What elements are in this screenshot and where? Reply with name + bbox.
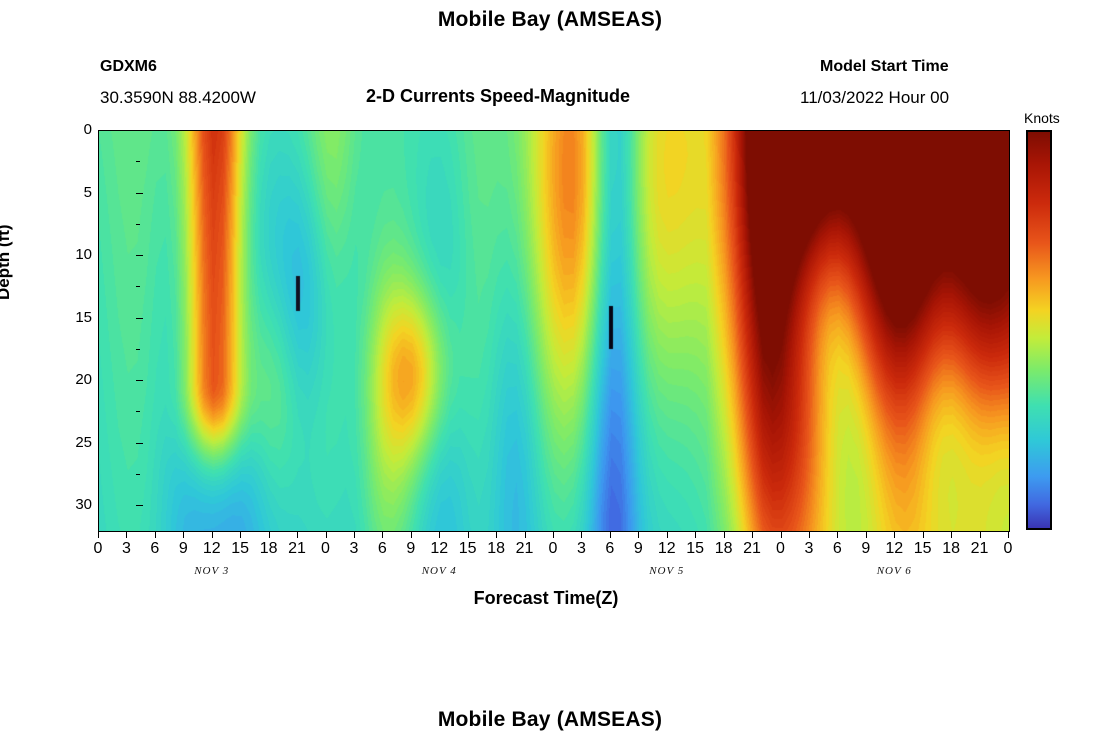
x-tick-mark [439, 531, 440, 538]
x-tick-mark [980, 531, 981, 538]
x-tick-mark [155, 531, 156, 538]
y-tick-mark [136, 255, 143, 256]
colorbar [1026, 130, 1100, 530]
x-tick-mark [809, 531, 810, 538]
x-tick-mark [866, 531, 867, 538]
heatmap-plot-area [98, 130, 1010, 532]
x-day-label: NOV 5 [607, 565, 727, 577]
y-tick-mark [136, 130, 143, 131]
page-title: Mobile Bay (AMSEAS) [0, 8, 1100, 32]
bottom-title: Mobile Bay (AMSEAS) [0, 708, 1100, 732]
x-tick-mark [667, 531, 668, 538]
x-tick-mark [923, 531, 924, 538]
x-tick-mark [468, 531, 469, 538]
x-tick-label: 0 [988, 540, 1028, 558]
x-tick-mark [269, 531, 270, 538]
y-tick-mark-minor [136, 286, 140, 287]
x-tick-mark [951, 531, 952, 538]
y-tick-mark-minor [136, 411, 140, 412]
x-axis-title: Forecast Time(Z) [0, 588, 1100, 609]
plot-subtitle: 2-D Currents Speed-Magnitude [366, 86, 630, 107]
x-tick-mark [610, 531, 611, 538]
y-tick-mark [136, 505, 143, 506]
x-tick-mark [837, 531, 838, 538]
y-tick-label: 20 [52, 371, 92, 388]
colorbar-gradient [1026, 130, 1052, 530]
y-tick-label: 10 [52, 246, 92, 263]
x-day-label: NOV 4 [379, 565, 499, 577]
y-tick-label: 25 [52, 434, 92, 451]
x-tick-mark [638, 531, 639, 538]
colorbar-title: Knots [1024, 110, 1060, 126]
x-tick-mark [126, 531, 127, 538]
x-day-label: NOV 3 [152, 565, 272, 577]
model-start-time-label: Model Start Time [820, 58, 949, 76]
x-tick-mark [240, 531, 241, 538]
x-tick-mark [1008, 531, 1009, 538]
y-tick-mark [136, 318, 143, 319]
x-tick-mark [98, 531, 99, 538]
x-tick-mark [752, 531, 753, 538]
y-tick-mark-minor [136, 349, 140, 350]
y-tick-mark-minor [136, 474, 140, 475]
y-tick-mark-minor [136, 224, 140, 225]
x-tick-mark [212, 531, 213, 538]
x-tick-mark [411, 531, 412, 538]
x-day-label: NOV 6 [834, 565, 954, 577]
y-tick-label: 30 [52, 496, 92, 513]
y-axis-title: Depth (ft) [0, 224, 14, 300]
y-tick-label: 5 [52, 184, 92, 201]
y-tick-mark [136, 380, 143, 381]
y-axis-ticks: 051015202530 [40, 130, 92, 530]
x-tick-mark [382, 531, 383, 538]
x-tick-mark [326, 531, 327, 538]
x-tick-mark [525, 531, 526, 538]
model-start-time-value: 11/03/2022 Hour 00 [800, 88, 949, 108]
x-tick-mark [894, 531, 895, 538]
x-tick-mark [581, 531, 582, 538]
x-tick-mark [183, 531, 184, 538]
x-tick-mark [724, 531, 725, 538]
y-tick-label: 15 [52, 309, 92, 326]
station-coordinates: 30.3590N 88.4200W [100, 88, 256, 108]
x-tick-mark [695, 531, 696, 538]
y-tick-mark [136, 193, 143, 194]
x-tick-mark [496, 531, 497, 538]
y-tick-mark-minor [136, 161, 140, 162]
station-id: GDXM6 [100, 58, 157, 76]
x-tick-mark [354, 531, 355, 538]
x-tick-mark [553, 531, 554, 538]
x-tick-mark [297, 531, 298, 538]
x-tick-mark [781, 531, 782, 538]
x-axis-title-text: Forecast Time(Z) [474, 588, 619, 608]
y-tick-mark [136, 443, 143, 444]
heatmap-canvas [99, 131, 1009, 531]
y-tick-label: 0 [52, 121, 92, 138]
